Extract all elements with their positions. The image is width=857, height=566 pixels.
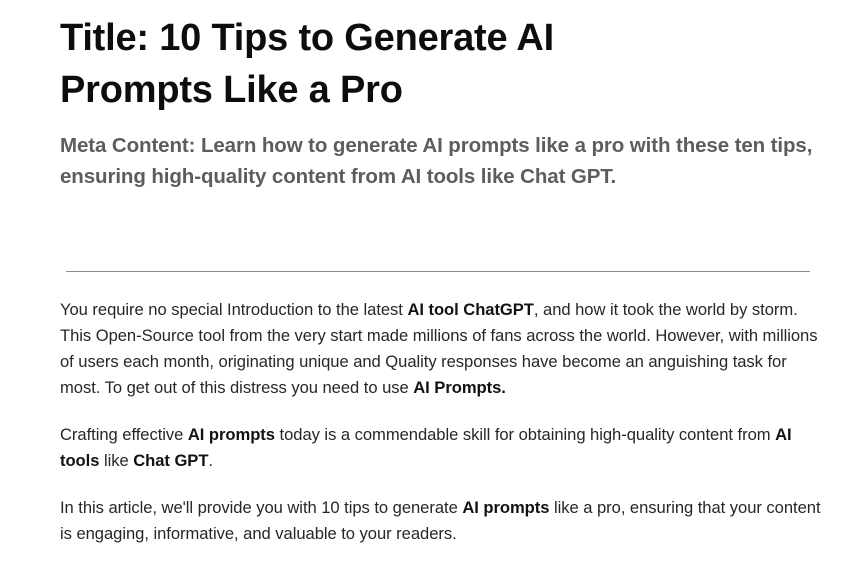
paragraph-2: Crafting effective AI prompts today is a… <box>60 422 822 474</box>
body-text: Crafting effective <box>60 425 188 444</box>
section-divider <box>66 271 810 272</box>
emphasized-text: AI prompts <box>188 425 275 444</box>
body-text: today is a commendable skill for obtaini… <box>275 425 775 444</box>
page-title: Title: 10 Tips to Generate AI Prompts Li… <box>60 12 670 116</box>
body-text: like <box>99 451 133 470</box>
body-text: In this article, we'll provide you with … <box>60 498 462 517</box>
meta-content-description: Meta Content: Learn how to generate AI p… <box>60 130 822 192</box>
emphasized-text: AI Prompts. <box>413 378 506 397</box>
emphasized-text: AI tool ChatGPT <box>407 300 533 319</box>
emphasized-text: Chat GPT <box>133 451 208 470</box>
body-text: . <box>208 451 213 470</box>
document-page: Title: 10 Tips to Generate AI Prompts Li… <box>0 0 857 566</box>
paragraph-3: In this article, we'll provide you with … <box>60 495 822 547</box>
article-body: You require no special Introduction to t… <box>60 297 822 547</box>
paragraph-1: You require no special Introduction to t… <box>60 297 822 401</box>
body-text: You require no special Introduction to t… <box>60 300 407 319</box>
emphasized-text: AI prompts <box>462 498 549 517</box>
